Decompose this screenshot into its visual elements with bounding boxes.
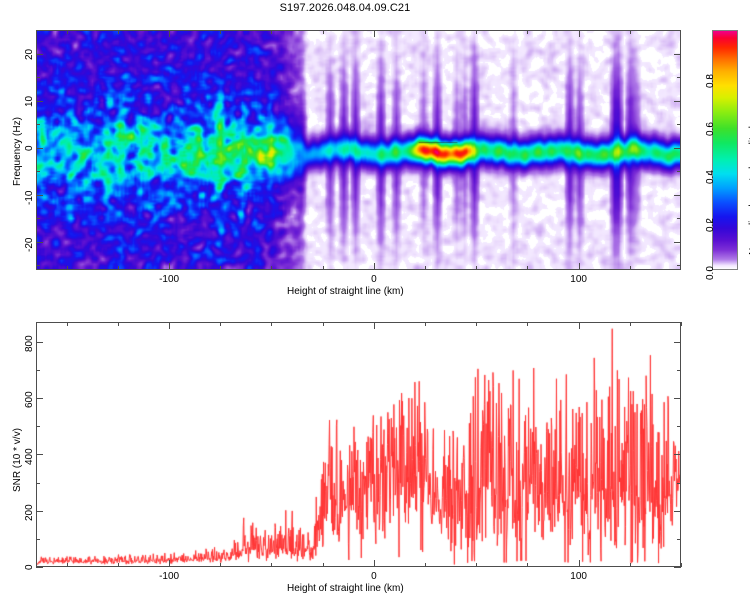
axis-tick-label: 800	[24, 335, 35, 352]
axis-tick	[579, 322, 580, 329]
axis-tick	[220, 30, 221, 34]
spectrogram-image	[37, 31, 680, 269]
axis-tick	[36, 454, 43, 455]
axis-tick	[630, 266, 631, 270]
axis-tick-label: 0	[24, 145, 35, 151]
axis-tick	[579, 263, 580, 270]
axis-tick	[677, 265, 681, 266]
axis-tick	[36, 483, 40, 484]
axis-tick	[425, 30, 426, 34]
axis-tick	[271, 30, 272, 34]
axis-tick	[674, 511, 681, 512]
axis-tick	[476, 322, 477, 326]
axis-tick	[36, 265, 40, 266]
axis-tick	[67, 563, 68, 567]
spectrogram-x-axis-label: Height of straight line (km)	[287, 286, 404, 297]
axis-tick	[476, 30, 477, 34]
axis-tick	[630, 30, 631, 34]
axis-tick	[674, 454, 681, 455]
axis-tick-label: 0.0	[705, 266, 716, 280]
axis-tick-label: 100	[570, 571, 587, 582]
axis-tick-label: 10	[24, 96, 35, 107]
figure-title: S197.2026.048.04.09.C21	[0, 2, 690, 14]
axis-tick	[169, 30, 170, 37]
axis-tick	[374, 560, 375, 567]
axis-tick	[630, 563, 631, 567]
axis-tick	[36, 148, 43, 149]
axis-tick	[630, 322, 631, 326]
axis-tick	[323, 266, 324, 270]
spectrogram-axes	[36, 30, 681, 270]
axis-tick	[169, 560, 170, 567]
axis-tick	[36, 242, 43, 243]
axis-tick	[118, 322, 119, 326]
axis-tick	[677, 483, 681, 484]
axis-tick	[36, 342, 43, 343]
axis-tick	[36, 426, 40, 427]
axis-tick-label: 0	[24, 565, 35, 571]
axis-tick	[36, 195, 43, 196]
axis-tick	[425, 322, 426, 326]
axis-tick	[374, 263, 375, 270]
axis-tick-label: -10	[24, 190, 35, 204]
axis-tick	[118, 30, 119, 34]
axis-tick	[527, 322, 528, 326]
axis-tick	[677, 218, 681, 219]
axis-tick	[374, 30, 375, 37]
axis-tick	[271, 322, 272, 326]
axis-tick	[476, 563, 477, 567]
colorbar	[712, 30, 738, 270]
axis-tick	[36, 101, 43, 102]
axis-tick	[674, 398, 681, 399]
axis-tick-label: -20	[24, 238, 35, 252]
axis-tick-label: 0	[371, 571, 377, 582]
axis-tick	[36, 54, 43, 55]
axis-tick	[677, 539, 681, 540]
axis-tick	[323, 30, 324, 34]
axis-tick	[118, 563, 119, 567]
axis-tick-label: 0.6	[705, 122, 716, 136]
axis-tick	[118, 266, 119, 270]
axis-tick	[36, 218, 40, 219]
axis-tick-label: 20	[24, 49, 35, 60]
axis-tick-label: 0.2	[705, 218, 716, 232]
axis-tick	[674, 342, 681, 343]
axis-tick-label: 400	[24, 448, 35, 465]
axis-tick	[527, 563, 528, 567]
axis-tick	[425, 266, 426, 270]
snr-x-axis-label: Height of straight line (km)	[287, 583, 404, 594]
axis-tick-label: -100	[159, 571, 179, 582]
axis-tick	[476, 266, 477, 270]
axis-tick	[67, 266, 68, 270]
axis-tick-label: 0	[371, 274, 377, 285]
axis-tick	[677, 171, 681, 172]
axis-tick-label: 600	[24, 392, 35, 409]
axis-tick	[579, 560, 580, 567]
axis-tick	[674, 148, 681, 149]
axis-tick	[36, 370, 40, 371]
figure-root: S197.2026.048.04.09.C21 -20-1001020 -100…	[0, 0, 750, 600]
axis-tick	[323, 322, 324, 326]
axis-tick	[323, 563, 324, 567]
axis-tick	[169, 322, 170, 329]
colorbar-gradient	[713, 31, 737, 269]
axis-tick	[36, 398, 43, 399]
axis-tick	[527, 266, 528, 270]
axis-tick	[374, 322, 375, 329]
axis-tick	[674, 567, 681, 568]
axis-tick	[220, 266, 221, 270]
axis-tick	[271, 563, 272, 567]
axis-tick	[674, 101, 681, 102]
axis-tick	[677, 77, 681, 78]
axis-tick-label: 0.8	[705, 74, 716, 88]
axis-tick-label: 100	[570, 274, 587, 285]
axis-tick	[36, 171, 40, 172]
axis-tick-label: -100	[159, 274, 179, 285]
axis-tick	[36, 77, 40, 78]
axis-tick	[425, 563, 426, 567]
axis-tick	[220, 563, 221, 567]
axis-tick	[674, 54, 681, 55]
axis-tick	[67, 322, 68, 326]
axis-tick	[674, 242, 681, 243]
axis-tick	[674, 195, 681, 196]
axis-tick-label: 0.4	[705, 170, 716, 184]
axis-tick	[220, 322, 221, 326]
snr-y-axis-label: SNR (10 * v/v)	[12, 428, 23, 492]
snr-line-series	[37, 323, 680, 566]
axis-tick-label: 200	[24, 504, 35, 521]
axis-tick	[579, 30, 580, 37]
axis-tick	[36, 539, 40, 540]
axis-tick	[527, 30, 528, 34]
axis-tick	[677, 370, 681, 371]
axis-tick	[169, 263, 170, 270]
axis-tick	[271, 266, 272, 270]
axis-tick	[681, 322, 682, 326]
axis-tick	[681, 563, 682, 567]
axis-tick	[677, 426, 681, 427]
axis-tick	[677, 124, 681, 125]
axis-tick	[36, 511, 43, 512]
snr-axes	[36, 322, 681, 567]
axis-tick	[36, 124, 40, 125]
axis-tick	[67, 30, 68, 34]
axis-tick	[36, 567, 43, 568]
spectrogram-y-axis-label: Frequency (Hz)	[12, 117, 23, 186]
